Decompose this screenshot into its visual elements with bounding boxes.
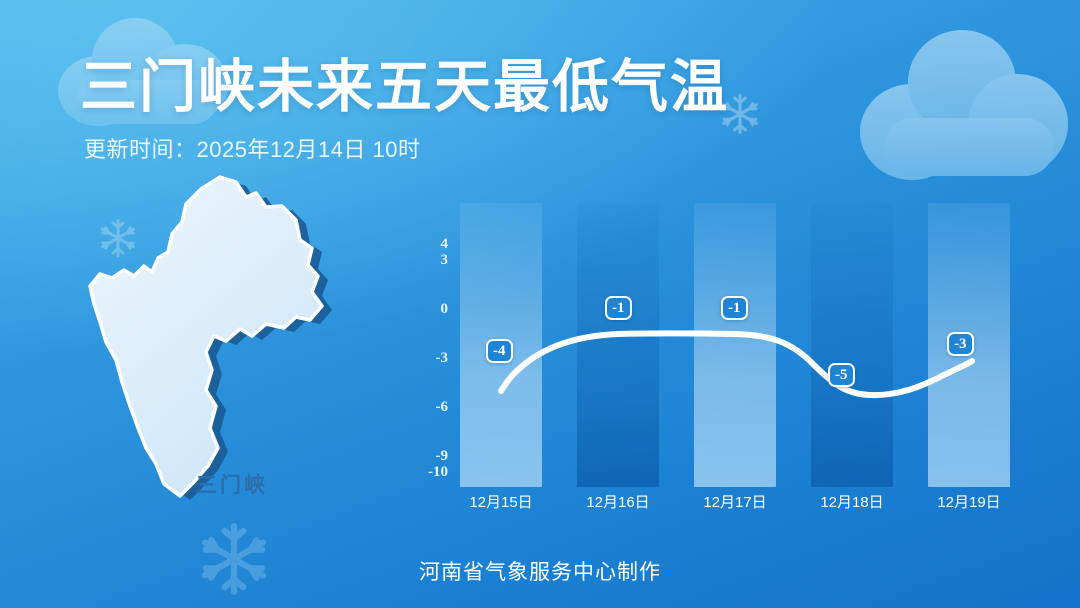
data-point-label: -1 bbox=[605, 296, 632, 320]
temperature-chart: 4 3 0 -3 -6 -9 -10 -4 -1 -1 -5 -3 12月15日… bbox=[420, 195, 1040, 515]
producer-credit: 河南省气象服务中心制作 bbox=[0, 556, 1080, 586]
data-point-label: -5 bbox=[828, 363, 855, 387]
data-point-label: -3 bbox=[947, 332, 974, 356]
temperature-line bbox=[420, 195, 1040, 515]
x-axis-tick: 12月19日 bbox=[909, 491, 1029, 512]
map-outline bbox=[90, 177, 322, 496]
cloud-icon bbox=[860, 26, 1070, 176]
x-axis-tick: 12月18日 bbox=[792, 491, 912, 512]
infographic-canvas: 三门峡未来五天最低气温 更新时间：2025年12月14日 10时 三门峡 bbox=[0, 0, 1080, 608]
page-title: 三门峡未来五天最低气温 bbox=[80, 58, 729, 118]
map-region-label: 三门峡 bbox=[196, 469, 268, 499]
temperature-line-path bbox=[501, 333, 972, 395]
x-axis-tick: 12月16日 bbox=[558, 491, 678, 512]
region-map: 三门峡 bbox=[70, 170, 400, 520]
data-point-label: -4 bbox=[486, 339, 513, 363]
data-point-label: -1 bbox=[721, 296, 748, 320]
x-axis-tick: 12月15日 bbox=[441, 491, 561, 512]
update-time-label: 更新时间：2025年12月14日 10时 bbox=[84, 132, 420, 164]
x-axis-tick: 12月17日 bbox=[675, 491, 795, 512]
